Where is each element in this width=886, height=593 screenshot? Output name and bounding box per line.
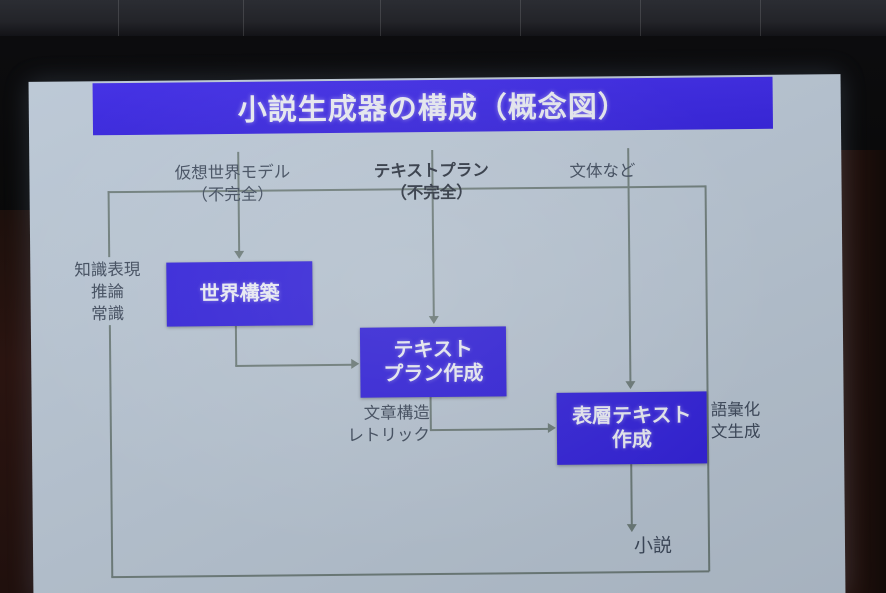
- page-title: 小説生成器の構成（概念図）: [238, 83, 628, 129]
- label-discourse-structure: 文章構造レトリック: [320, 402, 430, 447]
- connector-world-to-plan: [235, 364, 353, 367]
- label-world-model: 仮想世界モデル（不完全）: [147, 161, 317, 206]
- connector-plan-to-surface: [430, 428, 550, 431]
- ceiling-seam: [243, 0, 244, 36]
- ceiling-seam: [380, 0, 381, 36]
- connector-left-upper: [108, 191, 110, 257]
- ceiling-seam: [520, 0, 521, 36]
- connector-surface-out: [630, 464, 632, 526]
- slide-title-bar: 小説生成器の構成（概念図）: [93, 77, 773, 136]
- connector-right-rail: [705, 185, 710, 571]
- arrow-down-icon: [429, 316, 439, 324]
- ceiling-seam: [118, 0, 119, 36]
- label-output-novel: 小説: [608, 534, 698, 560]
- arrow-right-icon: [548, 423, 556, 433]
- arrow-right-icon: [351, 359, 359, 369]
- label-lexicalization: 語彙化文生成: [711, 398, 821, 443]
- connector-style-in: [627, 148, 631, 382]
- presentation-slide: 小説生成器の構成（概念図）: [29, 74, 846, 593]
- connector-bottom-rail: [111, 570, 709, 577]
- process-box-text-planning[interactable]: テキストプラン作成: [360, 326, 507, 397]
- label-text-plan: テキストプラン（不完全）: [341, 159, 521, 204]
- photo-of-projected-slide: 小説生成器の構成（概念図）: [0, 0, 886, 593]
- ceiling-panel: [0, 0, 886, 36]
- arrow-down-icon: [627, 524, 637, 532]
- arrow-down-icon: [234, 251, 244, 259]
- ceiling-seam: [640, 0, 641, 36]
- arrow-down-icon: [625, 381, 635, 389]
- connector-world-out: [235, 326, 237, 366]
- label-style: 文体など: [542, 160, 662, 183]
- ceiling-seam: [760, 0, 761, 36]
- diagram-canvas: 世界構築 テキストプラン作成 表層テキスト作成 仮想世界モデル（不完全） テキス…: [29, 128, 845, 593]
- process-box-world-building[interactable]: 世界構築: [166, 261, 313, 326]
- label-knowledge: 知識表現推論常識: [68, 259, 147, 325]
- process-box-surface-realization[interactable]: 表層テキスト作成: [557, 391, 708, 464]
- connector-left-lower: [109, 325, 113, 577]
